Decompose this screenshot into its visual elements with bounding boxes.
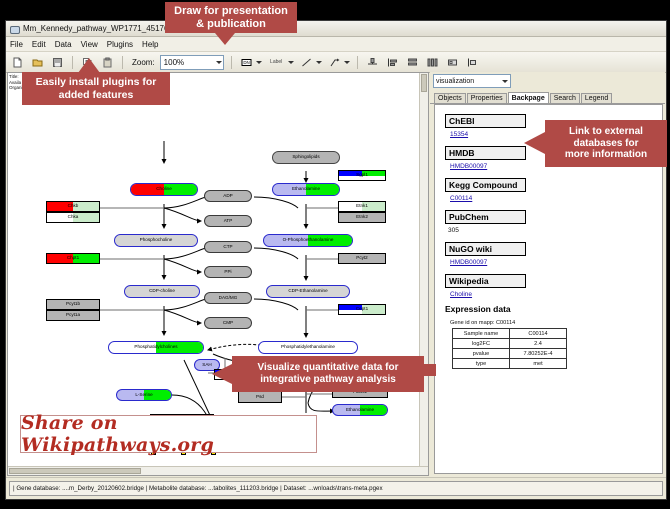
db-name-chebi: ChEBI: [445, 114, 526, 128]
expr-value-sample-name: C00114: [510, 329, 567, 339]
node-ethanolamine-top[interactable]: Ethanolamine: [272, 183, 340, 196]
callout-draw-arrow-icon: [215, 33, 235, 45]
node-ethanolamine-right[interactable]: Ethanolamine: [332, 404, 388, 416]
node-atp[interactable]: ATP: [204, 215, 252, 227]
share-banner: Share on Wikipathways.org: [20, 415, 317, 453]
gene-chka[interactable]: Chka: [46, 212, 100, 223]
toolbar-separator-2: [122, 56, 123, 69]
db-name-nugo: NuGO wiki: [445, 242, 526, 256]
zoom-combobox[interactable]: 100%: [160, 55, 224, 70]
node-choline-top[interactable]: Choline: [130, 183, 198, 196]
db-link-nugo[interactable]: HMDB00097: [450, 259, 662, 266]
gene-id-line: Gene id on mapp: C00114: [450, 320, 662, 326]
canvas-vscroll-thumb[interactable]: [421, 74, 427, 92]
db-block-nugo: NuGO wiki HMDB00097: [445, 239, 662, 266]
toolbar: Zoom: 100% DN Label: [6, 52, 666, 73]
db-name-wikipedia: Wikipedia: [445, 274, 526, 288]
label-tool[interactable]: Label: [267, 55, 294, 70]
tab-legend[interactable]: Legend: [581, 93, 612, 103]
group-icon[interactable]: [445, 55, 460, 70]
line-icon[interactable]: [299, 55, 314, 70]
toolbar-separator-3: [231, 56, 232, 69]
callout-plugins: Easily install plugins for added feature…: [22, 72, 170, 105]
callout-plugins-line2: added features: [59, 89, 134, 101]
chevron-down-icon[interactable]: [256, 61, 262, 64]
gene-etnk2[interactable]: Etnk2: [338, 212, 386, 223]
table-row: pvalue 7.80252E-4: [453, 349, 567, 359]
datanode-tool[interactable]: DN: [239, 55, 262, 70]
chevron-down-icon[interactable]: [216, 61, 222, 64]
callout-visualize-tail-icon: [424, 364, 436, 376]
db-name-kegg: Kegg Compound: [445, 178, 526, 192]
node-phosphatidylethanolamine[interactable]: Phosphatidylethanolamine: [258, 341, 358, 354]
screenshot-root: Mm_Kennedy_pathway_WP1771_45176.gpml Fil…: [0, 0, 670, 509]
gene-psd[interactable]: Psd: [238, 391, 282, 403]
menu-item-data[interactable]: Data: [55, 40, 72, 49]
chevron-down-icon[interactable]: [344, 61, 350, 64]
expr-value-pvalue: 7.80252E-4: [510, 349, 567, 359]
stack-icon[interactable]: [405, 55, 420, 70]
table-row: type met: [453, 359, 567, 369]
expression-table: Sample name C00114 log2FC 2.4 pvalue 7.8…: [452, 328, 567, 369]
zoom-label: Zoom:: [132, 58, 155, 67]
expr-key-type: type: [453, 359, 510, 369]
menu-item-view[interactable]: View: [81, 40, 98, 49]
table-row: log2FC 2.4: [453, 339, 567, 349]
gene-chpt1[interactable]: Chpt1: [46, 253, 100, 264]
node-l-serine-left[interactable]: L-Serine: [116, 389, 172, 401]
expr-key-sample-name: Sample name: [453, 329, 510, 339]
visualization-select[interactable]: visualization: [433, 74, 511, 88]
canvas-hscroll-thumb[interactable]: [9, 468, 141, 474]
tab-objects[interactable]: Objects: [434, 93, 466, 103]
chevron-down-icon[interactable]: [502, 80, 508, 83]
expression-data-title: Expression data: [445, 304, 662, 314]
status-bar-text: | Gene database: ....m_Derby_20120602.br…: [13, 485, 383, 492]
db-block-wikipedia: Wikipedia Choline: [445, 271, 662, 298]
node-sphingolipids[interactable]: Sphingolipids: [272, 151, 340, 164]
tab-backpage[interactable]: Backpage: [508, 92, 549, 103]
expr-value-log2fc: 2.4: [510, 339, 567, 349]
open-file-icon[interactable]: [30, 55, 45, 70]
zoom-value: 100%: [162, 58, 184, 67]
callout-visualize-line2: integrative pathway analysis: [260, 374, 396, 386]
callout-links-line1: Link to external: [569, 126, 643, 138]
arrow-tool[interactable]: [327, 55, 350, 70]
callout-draw-line2: & publication: [196, 18, 266, 31]
node-ctp[interactable]: CTP: [204, 241, 252, 253]
canvas-hscrollbar[interactable]: [8, 466, 428, 475]
db-block-kegg: Kegg Compound C00114: [445, 175, 662, 202]
save-file-icon[interactable]: [50, 55, 65, 70]
expr-key-log2fc: log2FC: [453, 339, 510, 349]
gene-etnk1[interactable]: Etnk1: [338, 201, 386, 212]
node-phosphocholine[interactable]: Phosphocholine: [114, 234, 198, 247]
menu-item-help[interactable]: Help: [142, 40, 158, 49]
db-value-pubchem: 305: [448, 227, 662, 234]
paste-icon[interactable]: [100, 55, 115, 70]
order-icon[interactable]: [465, 55, 480, 70]
tab-properties[interactable]: Properties: [467, 93, 507, 103]
datanode-icon[interactable]: DN: [239, 55, 254, 70]
line-tool[interactable]: [299, 55, 322, 70]
callout-visualize-line1: Visualize quantitative data for: [258, 362, 399, 374]
callout-links-arrow-icon: [524, 132, 545, 154]
callout-plugins-arrow-icon: [78, 58, 100, 73]
chevron-down-icon[interactable]: [316, 61, 322, 64]
menu-bar: File Edit Data View Plugins Help: [6, 37, 666, 52]
callout-links-line3: more information: [565, 149, 647, 161]
callout-links: Link to external databases for more info…: [545, 120, 667, 167]
node-cdp-choline[interactable]: CDP-choline: [124, 285, 200, 298]
node-adp[interactable]: ADP: [204, 190, 252, 202]
window-title: Mm_Kennedy_pathway_WP1771_45176.gpml: [23, 24, 188, 33]
new-file-icon[interactable]: [10, 55, 25, 70]
align-left-icon[interactable]: [385, 55, 400, 70]
callout-visualize: Visualize quantitative data for integrat…: [232, 356, 424, 392]
label-icon[interactable]: Label: [267, 55, 286, 70]
app-icon: [9, 24, 19, 34]
node-ppi[interactable]: PPi: [204, 266, 252, 278]
align-icon[interactable]: [365, 55, 380, 70]
arrow-icon[interactable]: [327, 55, 342, 70]
status-bar: | Gene database: ....m_Derby_20120602.br…: [6, 477, 666, 499]
node-o-phosphoethanolamine[interactable]: O-Phosphoethanolamine: [263, 234, 353, 247]
expr-value-type: met: [510, 359, 567, 369]
gene-pcyt1a[interactable]: Pcyt1a: [46, 310, 100, 321]
canvas-vscrollbar[interactable]: [419, 73, 428, 475]
db-name-hmdb: HMDB: [445, 146, 526, 160]
gene-sgpl1[interactable]: Sgpl1: [338, 170, 386, 181]
callout-draw-line1: Draw for presentation: [174, 5, 288, 18]
node-dag-mg[interactable]: DAG/MG: [204, 292, 252, 304]
label-text: Label: [270, 59, 282, 65]
menu-item-plugins[interactable]: Plugins: [107, 40, 133, 49]
menu-item-edit[interactable]: Edit: [32, 40, 46, 49]
menu-item-file[interactable]: File: [10, 40, 23, 49]
gene-cept1[interactable]: Cept1: [338, 304, 386, 315]
gene-pcyt2[interactable]: Pcyt2: [338, 253, 386, 264]
expr-key-pvalue: pvalue: [453, 349, 510, 359]
db-name-pubchem: PubChem: [445, 210, 526, 224]
callout-links-line2: databases for: [573, 138, 638, 150]
distribute-icon[interactable]: [425, 55, 440, 70]
side-panel-tabs: Objects Properties Backpage Search Legen…: [430, 90, 665, 104]
callout-plugins-line1: Easily install plugins for: [36, 76, 157, 88]
toolbar-separator-1: [72, 56, 73, 69]
chevron-down-icon[interactable]: [288, 61, 294, 64]
tab-search[interactable]: Search: [550, 93, 580, 103]
svg-text:DN: DN: [243, 60, 249, 65]
db-link-wikipedia[interactable]: Choline: [450, 291, 662, 298]
node-cdp-ethanolamine[interactable]: CDP-Ethanolamine: [266, 285, 350, 298]
callout-draw: Draw for presentation & publication: [165, 2, 297, 33]
db-block-pubchem: PubChem 305: [445, 207, 662, 234]
status-bar-inner: | Gene database: ....m_Derby_20120602.br…: [9, 481, 663, 496]
node-phosphatidylcholines[interactable]: Phosphatidylcholines: [108, 341, 204, 354]
db-link-kegg[interactable]: C00114: [450, 195, 662, 202]
toolbar-separator-4: [357, 56, 358, 69]
gene-pcyt1b[interactable]: Pcyt1b: [46, 299, 100, 310]
visualization-select-value: visualization: [436, 78, 474, 85]
gene-chkb[interactable]: Chkb: [46, 201, 100, 212]
title-bar: Mm_Kennedy_pathway_WP1771_45176.gpml: [6, 21, 666, 37]
node-cmp[interactable]: CMP: [204, 317, 252, 329]
share-text: Share on Wikipathways.org: [21, 412, 316, 456]
table-row: Sample name C00114: [453, 329, 567, 339]
callout-visualize-arrow-icon: [212, 364, 232, 384]
